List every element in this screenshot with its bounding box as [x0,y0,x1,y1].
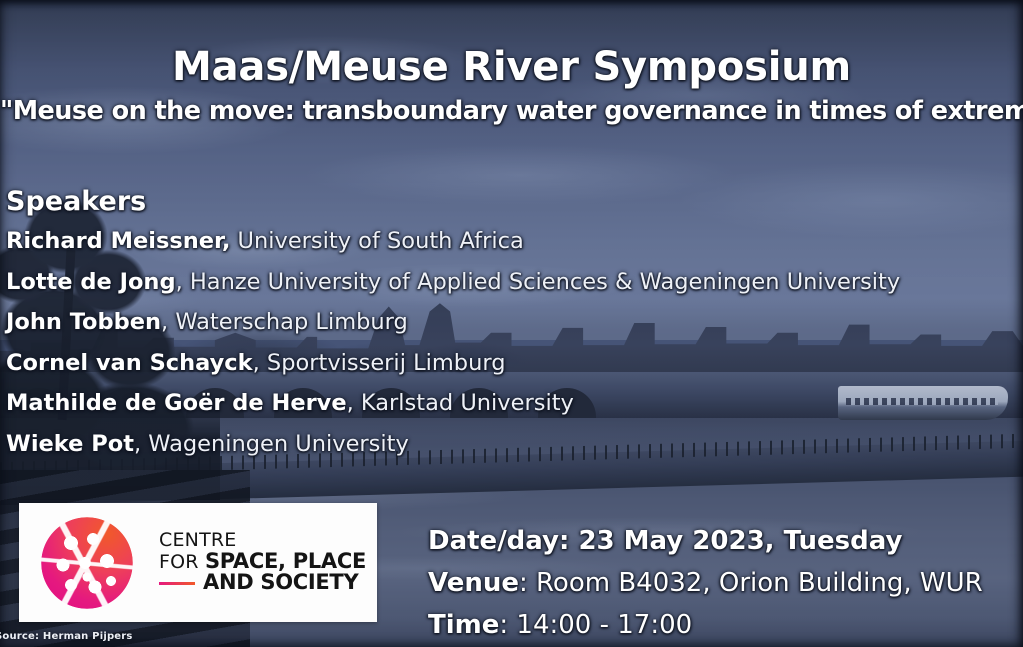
logo-word-and-society: AND SOCIETY [203,572,358,594]
speaker-affiliation: , Karlstad University [347,390,574,416]
speaker-affiliation: , Hanze University of Applied Sciences &… [176,269,901,295]
page-title: Maas/Meuse River Symposium [0,44,1023,90]
logo-word-space-place: SPACE, PLACE [205,549,366,573]
speaker-list-item: Cornel van Schayck, Sportvisserij Limbur… [6,352,1016,375]
speaker-name: Wieke Pot [6,431,134,457]
speaker-list-item: John Tobben, Waterschap Limburg [6,311,1016,334]
speaker-list-item: Lotte de Jong, Hanze University of Appli… [6,271,1016,294]
event-time-value: : 14:00 - 17:00 [499,610,692,640]
speaker-name: Lotte de Jong [6,269,176,295]
event-date-row: Date/day: 23 May 2023, Tuesday [428,528,1008,554]
logo-word-for: FOR [159,551,205,573]
event-time-row: Time: 14:00 - 17:00 [428,612,1008,638]
symposium-poster: Maas/Meuse River Symposium "Meuse on the… [0,0,1023,647]
speakers-heading: Speakers [6,188,1016,215]
speaker-affiliation: University of South Africa [230,228,523,254]
event-date-label: Date/day: [428,526,569,556]
logo-line-for-space-place: FOR SPACE, PLACE [159,551,366,573]
speakers-section: Speakers Richard Meissner, University of… [6,188,1016,473]
logo-accent-dash-icon [159,582,195,585]
speaker-list-item: Mathilde de Goër de Herve, Karlstad Univ… [6,392,1016,415]
speaker-affiliation: , Waterschap Limburg [161,309,408,335]
centre-logo-card: CENTRE FOR SPACE, PLACE AND SOCIETY [19,503,377,622]
event-date-value: 23 May 2023, Tuesday [569,526,902,556]
event-details-section: Date/day: 23 May 2023, Tuesday Venue: Ro… [428,528,1008,647]
logo-line-and-society: AND SOCIETY [159,572,366,594]
page-subtitle: "Meuse on the move: transboundary water … [0,96,1023,126]
event-venue-row: Venue: Room B4032, Orion Building, WUR [428,570,1008,596]
speaker-name: Cornel van Schayck [6,350,253,376]
speaker-name: Mathilde de Goër de Herve [6,390,347,416]
speaker-affiliation: , Sportvisserij Limburg [253,350,506,376]
brain-maze-circle-icon [41,517,133,609]
photo-source-credit: Source: Herman Pijpers [0,631,133,642]
event-venue-label: Venue [428,568,519,598]
event-venue-value: : Room B4032, Orion Building, WUR [519,568,983,598]
speaker-affiliation: , Wageningen University [134,431,409,457]
event-time-label: Time [428,610,499,640]
centre-logo-wordmark: CENTRE FOR SPACE, PLACE AND SOCIETY [159,531,366,594]
speaker-name: Richard Meissner, [6,228,230,254]
speaker-list-item: Wieke Pot, Wageningen University [6,433,1016,456]
speaker-list-item: Richard Meissner, University of South Af… [6,230,1016,253]
speaker-name: John Tobben [6,309,161,335]
